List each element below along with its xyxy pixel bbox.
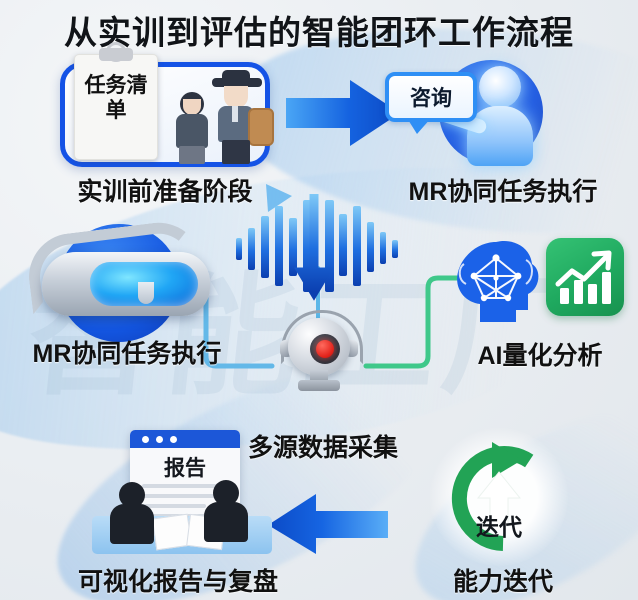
node-data-collection[interactable] (258, 188, 378, 388)
page-title: 从实训到评估的智能团环工作流程 (0, 6, 638, 54)
camera-lens (310, 334, 340, 364)
iteration-ring-text: 迭代 (440, 508, 558, 542)
node-visual-report[interactable]: 报告 (92, 430, 272, 560)
camera-base (298, 380, 340, 391)
label-mr-collab-left: MR协同任务执行 (2, 334, 252, 370)
report-title-bar (130, 430, 240, 448)
growth-chart-icon (546, 238, 624, 316)
node-pre-training[interactable]: 任务清单 (60, 62, 270, 167)
adult-figure-icon (210, 78, 266, 166)
infographic-canvas: 智能工厂 从实训到评估的智能团环工作流程 (0, 0, 638, 600)
arrow-bottom-left (264, 494, 388, 556)
node-mr-collab-left[interactable] (22, 222, 232, 342)
report-card-text: 报告 (130, 452, 240, 482)
goggle-nose-bridge (138, 282, 154, 304)
audio-waveform-icon (230, 188, 406, 308)
mr-goggles-icon (42, 252, 210, 316)
node-ai-analysis[interactable] (450, 232, 625, 332)
clipboard-icon: 任务清单 (74, 54, 158, 160)
label-capability-iteration: 能力迭代 (408, 562, 598, 598)
camera-body (288, 318, 350, 376)
clipboard-ring (106, 42, 126, 62)
child-figure-icon (172, 92, 212, 164)
brain-network-icon (450, 236, 542, 328)
node-mr-collab-top[interactable]: 咨询 (395, 58, 585, 170)
label-ai-analysis: AI量化分析 (440, 336, 638, 372)
task-card-text: 任务清单 (75, 73, 157, 123)
speech-bubble: 咨询 (385, 72, 477, 122)
node-capability-iteration[interactable]: 迭代 (440, 438, 558, 556)
label-mr-collab-top: MR协同任务执行 (378, 172, 628, 208)
label-visual-report: 可视化报告与复盘 (28, 562, 328, 598)
camera-sensor-icon (282, 318, 356, 392)
